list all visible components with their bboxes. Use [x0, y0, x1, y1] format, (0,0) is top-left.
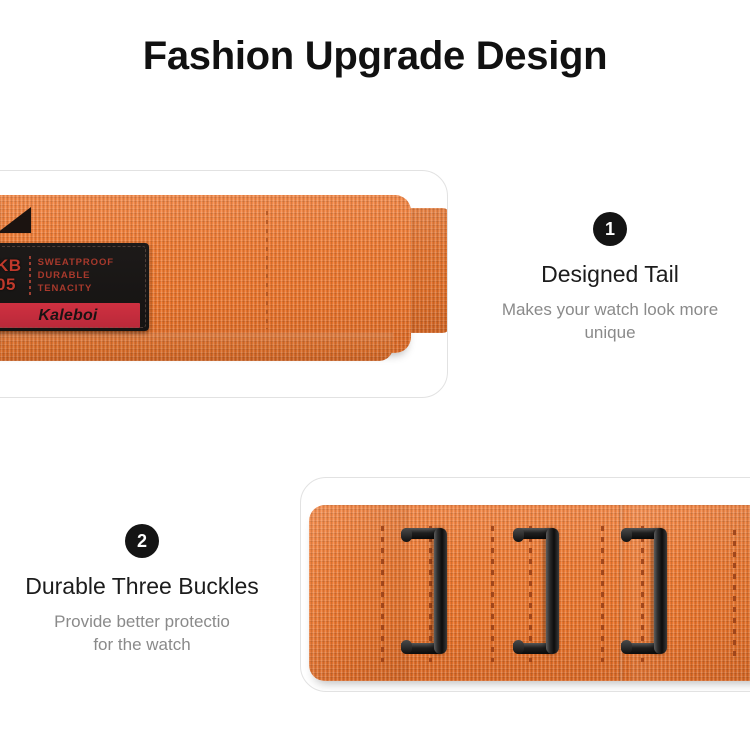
feature-designed-tail: 1 Designed Tail Makes your watch look mo…	[470, 212, 750, 345]
brand-label-top-row: KB 05 SWEATPROOF DURABLE TENACITY	[0, 252, 140, 299]
brand-label-patch: KB 05 SWEATPROOF DURABLE TENACITY Kalebo…	[0, 243, 149, 331]
brand-label-code: KB 05	[0, 257, 22, 294]
feature-desc-1: Makes your watch look more unique	[470, 298, 750, 345]
buckle-tip-top	[621, 528, 632, 542]
buckle-tip-bottom	[621, 640, 632, 654]
buckle-bar	[546, 528, 559, 654]
buckle-tip-bottom	[513, 640, 524, 654]
buckle-stitch-5	[601, 526, 604, 662]
photo-card-designed-tail: KB 05 SWEATPROOF DURABLE TENACITY Kalebo…	[0, 170, 448, 398]
claim-sweatproof: SWEATPROOF	[38, 256, 114, 269]
buckle-stitch-1	[381, 526, 384, 662]
claim-tenacity: TENACITY	[38, 282, 114, 295]
buckle-tip-top	[513, 528, 524, 542]
buckle-tip-bottom	[401, 640, 412, 654]
brand-label-claims: SWEATPROOF DURABLE TENACITY	[38, 256, 114, 295]
buckle-loop-2	[513, 528, 559, 654]
infographic-page: Fashion Upgrade Design KB 05	[0, 0, 750, 750]
feature-desc-2-line2: for the watch	[2, 633, 282, 656]
feature-desc-2-line1: Provide better protectio	[2, 610, 282, 633]
strap-stitch-line-top	[266, 211, 268, 329]
brand-label-divider	[29, 256, 31, 296]
strap-lower-edge	[0, 333, 393, 361]
buckle-tip-top	[401, 528, 412, 542]
claim-durable: DURABLE	[38, 269, 114, 282]
buckle-loop-3	[621, 528, 667, 654]
brand-name-text: Kaleboi	[38, 307, 97, 325]
feature-badge-2: 2	[125, 524, 159, 558]
feature-desc-1-line2: unique	[470, 321, 750, 344]
buckle-loop-1	[401, 528, 447, 654]
buckle-stitch-7	[733, 530, 736, 658]
feature-desc-1-line1: Makes your watch look more	[470, 298, 750, 321]
brand-name-bar: Kaleboi	[0, 303, 140, 328]
strap-panel-1	[309, 505, 409, 681]
page-title: Fashion Upgrade Design	[0, 32, 750, 80]
strap-shadow-wedge-top	[0, 207, 31, 233]
feature-title-1: Designed Tail	[470, 260, 750, 289]
feature-badge-1: 1	[593, 212, 627, 246]
buckle-bar	[434, 528, 447, 654]
feature-desc-2: Provide better protectio for the watch	[2, 610, 282, 657]
buckle-stitch-3	[491, 526, 494, 662]
feature-durable-three-buckles: 2 Durable Three Buckles Provide better p…	[2, 524, 282, 657]
photo-card-three-buckles	[300, 477, 750, 692]
buckle-bar	[654, 528, 667, 654]
feature-title-2: Durable Three Buckles	[2, 572, 282, 601]
